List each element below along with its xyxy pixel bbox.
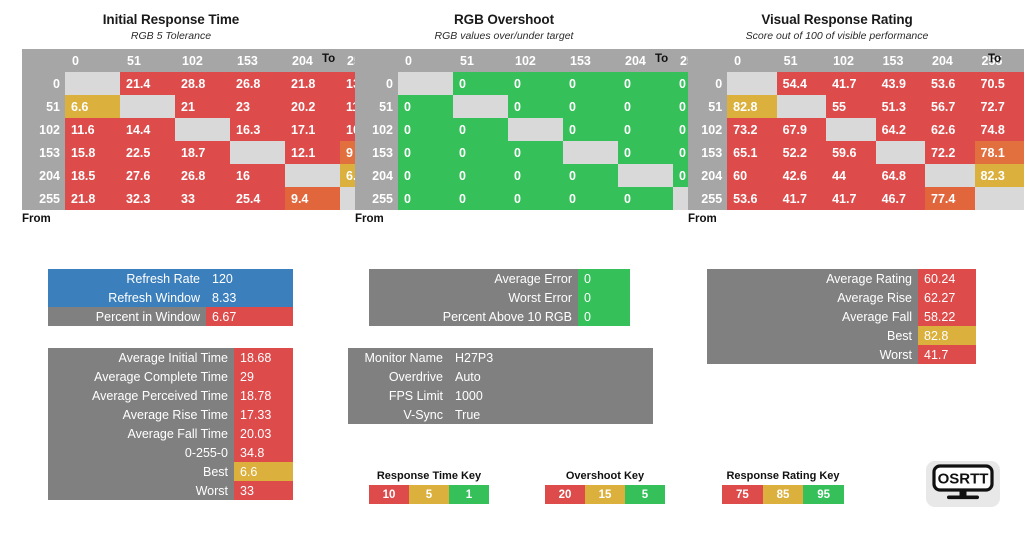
matrix-col-header: 102 <box>508 49 563 72</box>
matrix-cell-diagonal <box>65 72 120 95</box>
matrix-cell: 54.4 <box>777 72 826 95</box>
stat-value: 0 <box>578 288 630 307</box>
matrix-cell: 43.9 <box>876 72 925 95</box>
stat-label: Average Fall <box>707 307 918 326</box>
heatmap-initial-response-time: 051102153204255021.428.826.821.813516.62… <box>22 49 395 210</box>
matrix-row: 10211.614.416.317.110.8 <box>22 118 395 141</box>
matrix-row-header: 102 <box>355 118 398 141</box>
stat-value: 17.33 <box>234 405 293 424</box>
matrix-cell-diagonal <box>230 141 285 164</box>
axis-label-to: To <box>322 53 335 65</box>
matrix-row: 25500000 <box>355 187 728 210</box>
stat-value: 62.27 <box>918 288 976 307</box>
stat-label: Average Rise Time <box>48 405 234 424</box>
stat-row: Percent Above 10 RGB0 <box>369 307 630 326</box>
stat-row: Refresh Rate120 <box>48 269 293 288</box>
axis-label-from: From <box>355 213 728 225</box>
stat-label: Best <box>48 462 234 481</box>
matrix-row: 021.428.826.821.813 <box>22 72 395 95</box>
matrix-cell: 77.4 <box>925 187 974 210</box>
chart-title: RGB Overshoot <box>355 12 653 28</box>
matrix-col-header: 0 <box>65 49 120 72</box>
key-segment: 10 <box>369 485 409 504</box>
matrix-cell: 82.3 <box>975 164 1024 187</box>
matrix-row-header: 204 <box>22 164 65 187</box>
stat-value: 8.33 <box>206 288 293 307</box>
key-segment: 75 <box>722 485 763 504</box>
stat-value: 41.7 <box>918 345 976 364</box>
matrix-cell: 0 <box>563 187 618 210</box>
matrix-cell: 18.7 <box>175 141 230 164</box>
matrix-row-header: 255 <box>22 187 65 210</box>
matrix-cell: 44 <box>826 164 875 187</box>
matrix-cell: 16 <box>230 164 285 187</box>
heatmap-table: 051102153204255054.441.743.953.670.55182… <box>688 49 1024 210</box>
matrix-cell: 60 <box>727 164 776 187</box>
stat-value: 33 <box>234 481 293 500</box>
matrix-cell: 78.1 <box>975 141 1024 164</box>
matrix-row-header: 153 <box>355 141 398 164</box>
matrix-row-header: 153 <box>22 141 65 164</box>
matrix-cell: 21 <box>175 95 230 118</box>
matrix-cell: 0 <box>508 72 563 95</box>
chart-title: Initial Response Time <box>22 12 320 28</box>
refresh-stats-table: Refresh Rate120Refresh Window8.33Percent… <box>48 269 293 326</box>
response-rating-key-bar: 758595 <box>722 485 844 504</box>
stat-row: Refresh Window8.33 <box>48 288 293 307</box>
stat-row: Average Rise Time17.33 <box>48 405 293 424</box>
key-segment: 5 <box>625 485 665 504</box>
matrix-row-header: 51 <box>355 95 398 118</box>
matrix-row-header: 0 <box>355 72 398 95</box>
monitor-info-table: Monitor NameH27P3OverdriveAutoFPS Limit1… <box>348 348 653 424</box>
matrix-cell-diagonal <box>727 72 776 95</box>
stat-value: 20.03 <box>234 424 293 443</box>
stat-label: Average Error <box>369 269 578 288</box>
chart-panel-initial-response-time: Initial Response Time RGB 5 Tolerance 05… <box>22 12 395 225</box>
chart-subtitle: RGB 5 Tolerance <box>22 29 320 43</box>
matrix-cell-diagonal <box>398 72 453 95</box>
axis-label-from: From <box>688 213 1024 225</box>
stat-label: Worst <box>48 481 234 500</box>
matrix-cell-diagonal <box>453 95 508 118</box>
chart-subtitle: RGB values over/under target <box>355 29 653 43</box>
stat-row: Average Fall Time20.03 <box>48 424 293 443</box>
matrix-col-header: 0 <box>727 49 776 72</box>
matrix-cell: 20.2 <box>285 95 340 118</box>
stat-label: Average Complete Time <box>48 367 234 386</box>
matrix-cell: 53.6 <box>925 72 974 95</box>
stat-row: Worst41.7 <box>707 345 976 364</box>
matrix-col-header: 102 <box>175 49 230 72</box>
matrix-cell: 0 <box>618 118 673 141</box>
matrix-cell: 0 <box>618 187 673 210</box>
matrix-cell: 21.8 <box>65 187 120 210</box>
matrix-cell: 27.6 <box>120 164 175 187</box>
stat-row: Worst Error0 <box>369 288 630 307</box>
stat-label: FPS Limit <box>348 386 449 405</box>
matrix-cell: 26.8 <box>175 164 230 187</box>
stat-value: 29 <box>234 367 293 386</box>
stat-row: Average Error0 <box>369 269 630 288</box>
matrix-row-header: 102 <box>688 118 727 141</box>
matrix-row: 000000 <box>355 72 728 95</box>
matrix-cell: 0 <box>508 141 563 164</box>
matrix-col-header: 51 <box>777 49 826 72</box>
overshoot-key-panel: Overshoot Key 20155 <box>545 470 665 504</box>
key-segment: 15 <box>585 485 625 504</box>
stat-row: Worst33 <box>48 481 293 500</box>
matrix-row: 5100000 <box>355 95 728 118</box>
matrix-cell-diagonal <box>285 164 340 187</box>
matrix-cell: 72.2 <box>925 141 974 164</box>
matrix-cell: 33 <box>175 187 230 210</box>
matrix-cell: 21.8 <box>285 72 340 95</box>
heatmap-visual-response-rating: 051102153204255054.441.743.953.670.55182… <box>688 49 1024 210</box>
axis-label-from: From <box>22 213 395 225</box>
matrix-cell: 11.6 <box>65 118 120 141</box>
matrix-row-header: 102 <box>22 118 65 141</box>
matrix-cell: 21.4 <box>120 72 175 95</box>
matrix-cell: 62.6 <box>925 118 974 141</box>
matrix-cell: 0 <box>398 187 453 210</box>
axis-label-to: To <box>988 53 1001 65</box>
matrix-cell-diagonal <box>975 187 1024 210</box>
matrix-row-header: 204 <box>355 164 398 187</box>
matrix-row-header: 255 <box>688 187 727 210</box>
matrix-col-header: 153 <box>230 49 285 72</box>
matrix-cell-diagonal <box>175 118 230 141</box>
stat-row: Average Fall58.22 <box>707 307 976 326</box>
stat-value: 60.24 <box>918 269 976 288</box>
matrix-cell: 0 <box>398 164 453 187</box>
key-title: Response Time Key <box>369 470 489 482</box>
matrix-col-header: 204 <box>925 49 974 72</box>
matrix-cell: 51.3 <box>876 95 925 118</box>
matrix-row-header: 0 <box>22 72 65 95</box>
key-segment: 85 <box>763 485 804 504</box>
matrix-cell: 0 <box>563 164 618 187</box>
stat-label: 0-255-0 <box>48 443 234 462</box>
matrix-cell: 32.3 <box>120 187 175 210</box>
matrix-cell: 16.3 <box>230 118 285 141</box>
matrix-cell: 0 <box>618 72 673 95</box>
matrix-cell: 0 <box>563 95 618 118</box>
matrix-cell-diagonal <box>618 164 673 187</box>
matrix-row: 516.6212320.211.9 <box>22 95 395 118</box>
matrix-row: 10200000 <box>355 118 728 141</box>
matrix-row-header: 153 <box>688 141 727 164</box>
matrix-cell: 59.6 <box>826 141 875 164</box>
stat-row: FPS Limit1000 <box>348 386 653 405</box>
stat-label: Percent in Window <box>48 307 206 326</box>
matrix-cell: 74.8 <box>975 118 1024 141</box>
matrix-cell: 22.5 <box>120 141 175 164</box>
key-segment: 20 <box>545 485 585 504</box>
matrix-cell: 17.1 <box>285 118 340 141</box>
stat-row: Average Rise62.27 <box>707 288 976 307</box>
matrix-cell: 0 <box>508 164 563 187</box>
matrix-row-header: 51 <box>22 95 65 118</box>
stat-row: Best82.8 <box>707 326 976 345</box>
refresh-stats-panel: Refresh Rate120Refresh Window8.33Percent… <box>48 269 293 326</box>
matrix-cell: 6.6 <box>65 95 120 118</box>
response-time-key-bar: 1051 <box>369 485 489 504</box>
matrix-col-header: 153 <box>563 49 618 72</box>
matrix-cell: 41.7 <box>826 72 875 95</box>
matrix-cell-diagonal <box>120 95 175 118</box>
matrix-row: 25553.641.741.746.777.4 <box>688 187 1024 210</box>
stat-label: Average Rise <box>707 288 918 307</box>
matrix-cell-diagonal <box>777 95 826 118</box>
response-rating-key-panel: Response Rating Key 758595 <box>722 470 844 504</box>
stat-value: 0 <box>578 269 630 288</box>
matrix-cell: 0 <box>508 95 563 118</box>
matrix-cell-diagonal <box>876 141 925 164</box>
overshoot-stats-panel: Average Error0Worst Error0Percent Above … <box>369 269 630 326</box>
stat-value: 6.67 <box>206 307 293 326</box>
stat-row: 0-255-034.8 <box>48 443 293 462</box>
rating-stats-table: Average Rating60.24Average Rise62.27Aver… <box>707 269 976 364</box>
stat-row: OverdriveAuto <box>348 367 653 386</box>
stat-label: Refresh Window <box>48 288 206 307</box>
matrix-row: 2046042.64464.882.3 <box>688 164 1024 187</box>
overshoot-key-bar: 20155 <box>545 485 665 504</box>
matrix-cell: 14.4 <box>120 118 175 141</box>
stat-label: Average Rating <box>707 269 918 288</box>
matrix-cell-diagonal <box>563 141 618 164</box>
stat-label: Average Perceived Time <box>48 386 234 405</box>
matrix-corner <box>688 49 727 72</box>
matrix-row: 25521.832.33325.49.4 <box>22 187 395 210</box>
matrix-cell: 70.5 <box>975 72 1024 95</box>
monitor-icon: OSRTT <box>931 464 995 504</box>
matrix-cell: 0 <box>618 141 673 164</box>
matrix-cell: 0 <box>563 72 618 95</box>
matrix-cell: 0 <box>398 141 453 164</box>
chart-subtitle: Score out of 100 of visible performance <box>688 29 986 43</box>
stat-value: True <box>449 405 653 424</box>
matrix-row: 20400000 <box>355 164 728 187</box>
stat-label: V-Sync <box>348 405 449 424</box>
stat-label: Refresh Rate <box>48 269 206 288</box>
stat-value: H27P3 <box>449 348 653 367</box>
matrix-cell: 0 <box>453 118 508 141</box>
stat-value: 82.8 <box>918 326 976 345</box>
heatmap-rgb-overshoot: 0511021532042550000005100000102000001530… <box>355 49 728 210</box>
matrix-cell: 9.4 <box>285 187 340 210</box>
matrix-cell: 67.9 <box>777 118 826 141</box>
matrix-row: 15315.822.518.712.19 <box>22 141 395 164</box>
key-title: Overshoot Key <box>545 470 665 482</box>
matrix-cell: 65.1 <box>727 141 776 164</box>
stat-row: Average Initial Time18.68 <box>48 348 293 367</box>
matrix-corner <box>355 49 398 72</box>
key-title: Response Rating Key <box>722 470 844 482</box>
stat-value: 58.22 <box>918 307 976 326</box>
matrix-cell: 73.2 <box>727 118 776 141</box>
stat-row: Average Complete Time29 <box>48 367 293 386</box>
matrix-cell-diagonal <box>925 164 974 187</box>
response-time-stats-panel: Average Initial Time18.68Average Complet… <box>48 348 293 500</box>
key-segment: 5 <box>409 485 449 504</box>
matrix-cell: 25.4 <box>230 187 285 210</box>
matrix-cell: 64.8 <box>876 164 925 187</box>
matrix-cell: 0 <box>563 118 618 141</box>
matrix-cell: 0 <box>453 72 508 95</box>
stat-row: Monitor NameH27P3 <box>348 348 653 367</box>
stat-value: Auto <box>449 367 653 386</box>
matrix-row: 054.441.743.953.670.5 <box>688 72 1024 95</box>
matrix-cell: 0 <box>453 141 508 164</box>
matrix-row: 5182.85551.356.772.7 <box>688 95 1024 118</box>
stat-label: Average Initial Time <box>48 348 234 367</box>
matrix-cell: 52.2 <box>777 141 826 164</box>
matrix-cell: 12.1 <box>285 141 340 164</box>
matrix-col-header: 0 <box>398 49 453 72</box>
matrix-cell: 15.8 <box>65 141 120 164</box>
matrix-cell: 0 <box>618 95 673 118</box>
matrix-cell-diagonal <box>826 118 875 141</box>
stat-value: 1000 <box>449 386 653 405</box>
chart-title: Visual Response Rating <box>688 12 986 28</box>
rating-stats-panel: Average Rating60.24Average Rise62.27Aver… <box>707 269 976 364</box>
matrix-cell: 82.8 <box>727 95 776 118</box>
stat-row: Average Rating60.24 <box>707 269 976 288</box>
stat-row: Percent in Window6.67 <box>48 307 293 326</box>
matrix-row-header: 0 <box>688 72 727 95</box>
chart-panel-visual-response-rating: Visual Response Rating Score out of 100 … <box>688 12 1024 225</box>
stat-label: Worst Error <box>369 288 578 307</box>
matrix-cell: 28.8 <box>175 72 230 95</box>
matrix-cell: 26.8 <box>230 72 285 95</box>
matrix-cell: 0 <box>453 164 508 187</box>
matrix-row: 10273.267.964.262.674.8 <box>688 118 1024 141</box>
heatmap-table: 051102153204255021.428.826.821.813516.62… <box>22 49 395 210</box>
axis-label-to: To <box>655 53 668 65</box>
matrix-cell: 72.7 <box>975 95 1024 118</box>
matrix-cell: 18.5 <box>65 164 120 187</box>
response-time-stats-table: Average Initial Time18.68Average Complet… <box>48 348 293 500</box>
stat-value: 18.68 <box>234 348 293 367</box>
matrix-row-header: 204 <box>688 164 727 187</box>
osrtt-logo: OSRTT <box>926 461 1000 507</box>
matrix-col-header: 153 <box>876 49 925 72</box>
matrix-corner <box>22 49 65 72</box>
stat-value: 6.6 <box>234 462 293 481</box>
stat-value: 0 <box>578 307 630 326</box>
monitor-info-panel: Monitor NameH27P3OverdriveAutoFPS Limit1… <box>348 348 653 424</box>
matrix-cell: 0 <box>398 118 453 141</box>
matrix-row: 15300000 <box>355 141 728 164</box>
overshoot-stats-table: Average Error0Worst Error0Percent Above … <box>369 269 630 326</box>
matrix-col-header: 102 <box>826 49 875 72</box>
matrix-row: 15365.152.259.672.278.1 <box>688 141 1024 164</box>
stat-value: 120 <box>206 269 293 288</box>
stat-label: Best <box>707 326 918 345</box>
stat-label: Monitor Name <box>348 348 449 367</box>
matrix-cell: 41.7 <box>777 187 826 210</box>
matrix-row-header: 255 <box>355 187 398 210</box>
logo-wordmark: OSRTT <box>938 471 989 488</box>
stat-label: Average Fall Time <box>48 424 234 443</box>
stat-label: Overdrive <box>348 367 449 386</box>
matrix-cell: 46.7 <box>876 187 925 210</box>
matrix-cell: 0 <box>508 187 563 210</box>
matrix-cell: 64.2 <box>876 118 925 141</box>
matrix-cell: 53.6 <box>727 187 776 210</box>
stat-label: Worst <box>707 345 918 364</box>
matrix-cell: 55 <box>826 95 875 118</box>
matrix-cell: 0 <box>398 95 453 118</box>
response-time-key-panel: Response Time Key 1051 <box>369 470 489 504</box>
heatmap-table: 0511021532042550000005100000102000001530… <box>355 49 728 210</box>
matrix-cell: 42.6 <box>777 164 826 187</box>
matrix-row: 20418.527.626.8166.8 <box>22 164 395 187</box>
key-segment: 95 <box>803 485 844 504</box>
stat-label: Percent Above 10 RGB <box>369 307 578 326</box>
matrix-cell-diagonal <box>508 118 563 141</box>
logo-container: OSRTT <box>926 461 1000 507</box>
stat-row: Average Perceived Time18.78 <box>48 386 293 405</box>
matrix-row-header: 51 <box>688 95 727 118</box>
stat-row: V-SyncTrue <box>348 405 653 424</box>
stat-value: 18.78 <box>234 386 293 405</box>
matrix-cell: 0 <box>453 187 508 210</box>
matrix-cell: 41.7 <box>826 187 875 210</box>
matrix-col-header: 51 <box>120 49 175 72</box>
matrix-col-header: 51 <box>453 49 508 72</box>
chart-panel-rgb-overshoot: RGB Overshoot RGB values over/under targ… <box>355 12 728 225</box>
key-segment: 1 <box>449 485 489 504</box>
matrix-cell: 23 <box>230 95 285 118</box>
matrix-cell: 56.7 <box>925 95 974 118</box>
stat-row: Best6.6 <box>48 462 293 481</box>
stat-value: 34.8 <box>234 443 293 462</box>
